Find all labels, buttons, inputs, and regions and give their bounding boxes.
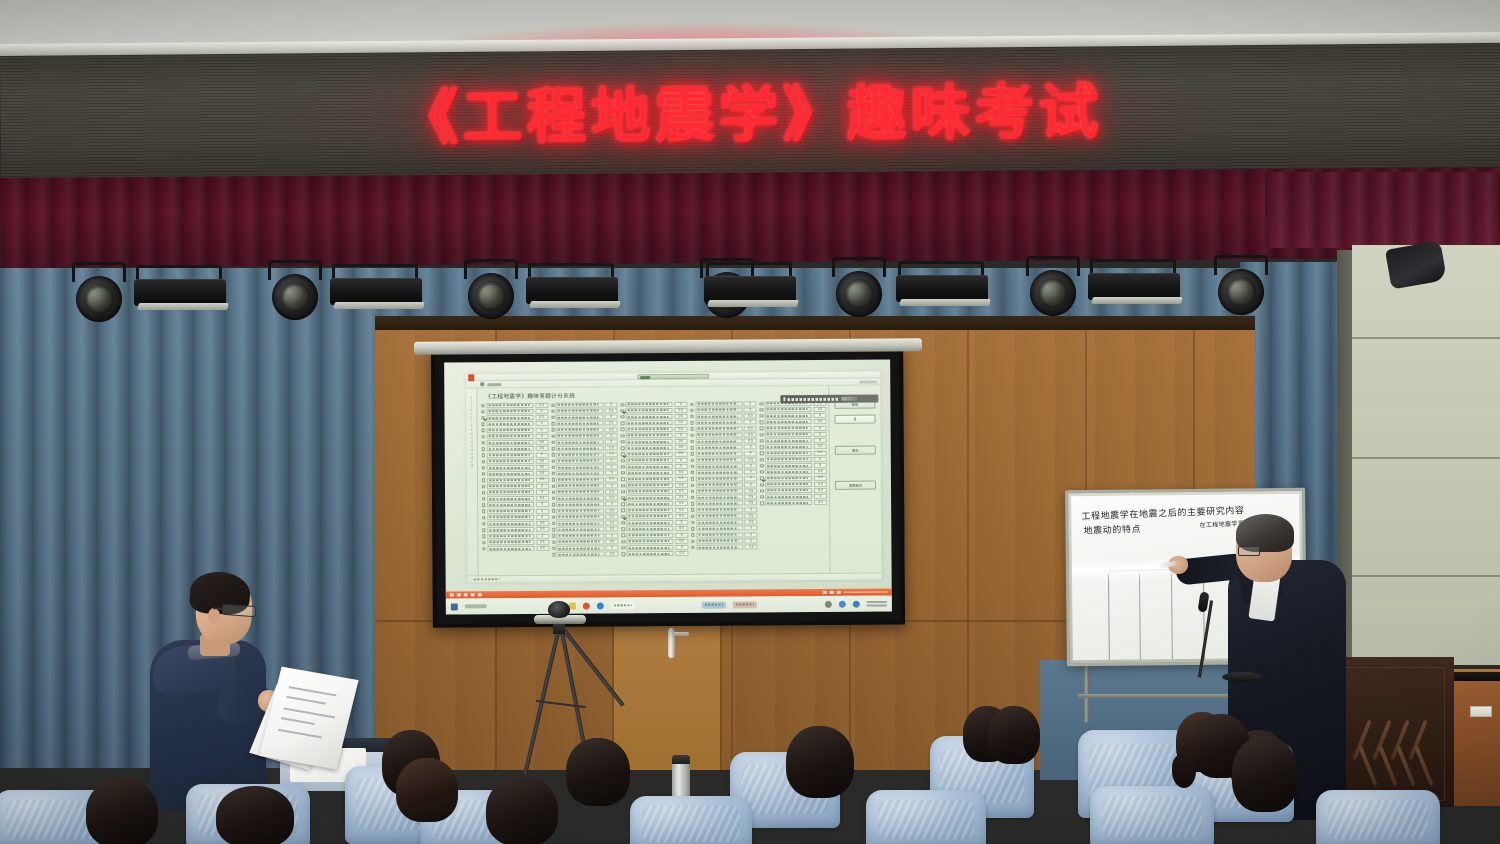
student-checkbox[interactable] xyxy=(482,416,485,419)
student-checkbox[interactable] xyxy=(551,422,554,425)
student-score-cell[interactable]: 0.5 xyxy=(814,469,827,474)
student-score-cell[interactable]: 0.5 xyxy=(535,459,548,464)
student-name-cell[interactable] xyxy=(487,546,534,551)
student-checkbox[interactable] xyxy=(760,433,763,436)
student-checkbox[interactable] xyxy=(760,445,763,448)
student-name-cell[interactable] xyxy=(557,489,604,494)
student-score-cell[interactable]: 0.5 xyxy=(744,457,757,462)
student-score-cell[interactable]: 0 xyxy=(535,452,548,457)
student-name-cell[interactable] xyxy=(556,458,603,463)
student-name-cell[interactable] xyxy=(695,414,742,419)
student-name-cell[interactable] xyxy=(626,489,673,494)
student-name-cell[interactable] xyxy=(765,494,812,499)
student-checkbox[interactable] xyxy=(760,495,763,498)
student-score-cell[interactable]: 0 xyxy=(605,415,618,420)
student-score-cell[interactable]: 0 xyxy=(675,545,688,550)
student-score-cell[interactable]: 0.5 xyxy=(605,527,618,532)
student-checkbox[interactable] xyxy=(690,427,693,430)
student-score-cell[interactable]: 0.5 xyxy=(744,501,757,506)
student-checkbox[interactable] xyxy=(482,460,485,463)
student-score-cell[interactable]: 0.5 xyxy=(675,451,688,456)
student-checkbox[interactable] xyxy=(621,515,624,518)
student-checkbox[interactable] xyxy=(690,402,693,405)
student-checkbox[interactable] xyxy=(551,466,554,469)
student-checkbox[interactable] xyxy=(552,547,555,550)
student-score-cell[interactable]: 0 xyxy=(536,484,549,489)
student-checkbox[interactable] xyxy=(760,421,763,424)
student-score-cell[interactable]: 0.5 xyxy=(674,420,687,425)
student-score-cell[interactable]: 0.5 xyxy=(814,444,827,449)
student-name-cell[interactable] xyxy=(626,414,673,419)
student-score-cell[interactable]: 0.5 xyxy=(605,520,618,525)
student-name-cell[interactable] xyxy=(695,432,742,437)
student-score-cell[interactable]: 0 xyxy=(814,494,827,499)
student-name-cell[interactable] xyxy=(765,451,812,456)
student-name-cell[interactable] xyxy=(487,459,534,464)
student-score-cell[interactable]: 0.5 xyxy=(605,427,618,432)
student-checkbox[interactable] xyxy=(760,439,763,442)
student-checkbox[interactable] xyxy=(481,410,484,413)
student-score-cell[interactable]: 0.5 xyxy=(814,488,827,493)
student-score-cell[interactable]: 0 xyxy=(605,439,618,444)
student-name-cell[interactable] xyxy=(626,476,673,481)
student-name-cell[interactable] xyxy=(626,514,673,519)
taskbar-search-box[interactable] xyxy=(465,604,487,608)
student-name-cell[interactable] xyxy=(487,490,534,495)
student-score-cell[interactable]: 0 xyxy=(536,502,549,507)
student-score-cell[interactable]: 0 xyxy=(745,532,758,537)
student-checkbox[interactable] xyxy=(482,422,485,425)
student-checkbox[interactable] xyxy=(690,433,693,436)
student-checkbox[interactable] xyxy=(760,464,763,467)
student-name-cell[interactable] xyxy=(557,533,604,538)
student-name-cell[interactable] xyxy=(487,440,534,445)
edge-browser-icon[interactable] xyxy=(596,602,603,609)
student-checkbox[interactable] xyxy=(691,490,694,493)
student-checkbox[interactable] xyxy=(552,503,555,506)
student-name-cell[interactable] xyxy=(487,477,534,482)
student-score-cell[interactable]: 0.5 xyxy=(605,489,618,494)
student-checkbox[interactable] xyxy=(551,447,554,450)
student-name-cell[interactable] xyxy=(487,484,534,489)
reset-button[interactable]: 清屏复位 xyxy=(835,481,876,490)
student-name-cell[interactable] xyxy=(765,488,812,493)
student-score-cell[interactable]: 0 xyxy=(744,470,757,475)
student-checkbox[interactable] xyxy=(482,504,485,507)
student-checkbox[interactable] xyxy=(622,540,625,543)
tray-volume-icon[interactable] xyxy=(853,600,860,607)
student-name-cell[interactable] xyxy=(696,545,743,550)
student-score-cell[interactable]: 0.5 xyxy=(675,551,688,556)
view-mode-button[interactable] xyxy=(823,591,827,594)
student-score-cell[interactable]: 0 xyxy=(814,463,827,468)
student-checkbox[interactable] xyxy=(551,459,554,462)
document-title-tab[interactable] xyxy=(637,374,709,380)
student-checkbox[interactable] xyxy=(691,496,694,499)
student-name-cell[interactable] xyxy=(765,469,812,474)
student-name-cell[interactable] xyxy=(487,496,534,501)
student-checkbox[interactable] xyxy=(552,553,555,556)
student-score-cell[interactable]: 0.5 xyxy=(675,539,688,544)
student-score-cell[interactable]: 0.5 xyxy=(674,414,687,419)
student-name-cell[interactable] xyxy=(626,483,673,488)
student-score-cell[interactable]: 0 xyxy=(744,445,757,450)
student-name-cell[interactable] xyxy=(626,533,673,538)
student-name-cell[interactable] xyxy=(556,421,603,426)
student-checkbox[interactable] xyxy=(621,446,624,449)
student-score-cell[interactable]: 0.5 xyxy=(536,521,549,526)
student-checkbox[interactable] xyxy=(621,409,624,412)
student-checkbox[interactable] xyxy=(691,546,694,549)
student-checkbox[interactable] xyxy=(621,459,624,462)
student-checkbox[interactable] xyxy=(621,428,624,431)
student-score-cell[interactable]: 0.5 xyxy=(675,483,688,488)
student-name-cell[interactable] xyxy=(695,439,742,444)
student-name-cell[interactable] xyxy=(765,426,812,431)
student-name-cell[interactable] xyxy=(556,408,603,413)
student-score-cell[interactable]: 0 xyxy=(744,463,757,468)
student-checkbox[interactable] xyxy=(482,454,485,457)
student-name-cell[interactable] xyxy=(487,521,534,526)
student-checkbox[interactable] xyxy=(482,547,485,550)
student-score-cell[interactable]: 0.5 xyxy=(744,426,757,431)
student-checkbox[interactable] xyxy=(621,434,624,437)
student-score-cell[interactable]: 0.5 xyxy=(535,471,548,476)
student-name-cell[interactable] xyxy=(696,501,743,506)
student-score-cell[interactable]: 0.5 xyxy=(675,508,688,513)
browser-icon[interactable] xyxy=(582,602,589,609)
student-checkbox[interactable] xyxy=(621,422,624,425)
student-checkbox[interactable] xyxy=(690,409,693,412)
student-score-cell[interactable]: 0 xyxy=(744,401,757,406)
student-name-cell[interactable] xyxy=(695,407,742,412)
student-name-cell[interactable] xyxy=(486,403,533,408)
student-score-cell[interactable]: 0 xyxy=(675,520,688,525)
student-checkbox[interactable] xyxy=(691,465,694,468)
student-score-cell[interactable]: 0.5 xyxy=(605,508,618,513)
tray-network-icon[interactable] xyxy=(839,600,846,607)
student-score-cell[interactable]: 0.5 xyxy=(605,452,618,457)
student-score-cell[interactable]: 0 xyxy=(606,533,619,538)
save-button[interactable]: 保存 xyxy=(835,446,876,455)
student-name-cell[interactable] xyxy=(765,482,812,487)
student-checkbox[interactable] xyxy=(621,415,624,418)
student-checkbox[interactable] xyxy=(621,521,624,524)
student-score-cell[interactable]: 0.5 xyxy=(536,496,549,501)
tray-icon[interactable] xyxy=(825,600,832,607)
student-score-cell[interactable]: 0 xyxy=(744,407,757,412)
student-score-cell[interactable]: 0.5 xyxy=(535,415,548,420)
student-checkbox[interactable] xyxy=(482,485,485,488)
student-checkbox[interactable] xyxy=(482,435,485,438)
student-name-cell[interactable] xyxy=(627,551,674,556)
student-score-cell[interactable]: 0.5 xyxy=(675,526,688,531)
student-score-cell[interactable]: 0 xyxy=(744,420,757,425)
student-checkbox[interactable] xyxy=(482,491,485,494)
student-name-cell[interactable] xyxy=(695,451,742,456)
student-checkbox[interactable] xyxy=(760,470,763,473)
student-checkbox[interactable] xyxy=(621,503,624,506)
student-name-cell[interactable] xyxy=(556,483,603,488)
student-checkbox[interactable] xyxy=(621,471,624,474)
student-checkbox[interactable] xyxy=(482,472,485,475)
student-checkbox[interactable] xyxy=(551,453,554,456)
student-name-cell[interactable] xyxy=(696,476,743,481)
student-checkbox[interactable] xyxy=(482,541,485,544)
taskbar-window-button[interactable] xyxy=(610,602,634,609)
student-score-cell[interactable]: 0 xyxy=(536,515,549,520)
student-name-cell[interactable] xyxy=(765,438,812,443)
student-score-cell[interactable]: 0.5 xyxy=(535,440,548,445)
student-checkbox[interactable] xyxy=(552,478,555,481)
student-score-cell[interactable]: 0 xyxy=(606,545,619,550)
student-score-cell[interactable]: 0.5 xyxy=(814,450,827,455)
student-score-cell[interactable]: 0.5 xyxy=(605,496,618,501)
student-score-cell[interactable]: 0.5 xyxy=(605,421,618,426)
student-checkbox[interactable] xyxy=(552,522,555,525)
student-checkbox[interactable] xyxy=(552,540,555,543)
student-name-cell[interactable] xyxy=(557,527,604,532)
student-checkbox[interactable] xyxy=(482,441,485,444)
windows-taskbar[interactable] xyxy=(446,595,892,614)
student-name-cell[interactable] xyxy=(626,458,673,463)
student-checkbox[interactable] xyxy=(760,427,763,430)
student-name-cell[interactable] xyxy=(557,502,604,507)
student-checkbox[interactable] xyxy=(760,477,763,480)
student-checkbox[interactable] xyxy=(690,415,693,418)
student-name-cell[interactable] xyxy=(556,440,603,445)
student-name-cell[interactable] xyxy=(556,452,603,457)
student-name-cell[interactable] xyxy=(556,477,603,482)
student-checkbox[interactable] xyxy=(621,453,624,456)
student-name-cell[interactable] xyxy=(487,540,534,545)
student-name-cell[interactable] xyxy=(626,427,673,432)
student-checkbox[interactable] xyxy=(691,533,694,536)
student-name-cell[interactable] xyxy=(626,420,673,425)
student-name-cell[interactable] xyxy=(626,539,673,544)
student-checkbox[interactable] xyxy=(551,403,554,406)
window-controls[interactable] xyxy=(859,381,877,384)
student-checkbox[interactable] xyxy=(482,497,485,500)
student-checkbox[interactable] xyxy=(551,428,554,431)
student-checkbox[interactable] xyxy=(552,484,555,487)
student-score-cell[interactable]: 0 xyxy=(745,526,758,531)
student-name-cell[interactable] xyxy=(626,508,673,513)
student-score-cell[interactable]: 0 xyxy=(535,409,548,414)
student-name-cell[interactable] xyxy=(557,539,604,544)
student-name-cell[interactable] xyxy=(765,457,812,462)
student-checkbox[interactable] xyxy=(621,403,624,406)
student-checkbox[interactable] xyxy=(691,477,694,480)
student-score-cell[interactable]: 0.5 xyxy=(813,407,826,412)
student-name-cell[interactable] xyxy=(765,413,812,418)
student-name-cell[interactable] xyxy=(765,444,812,449)
student-score-cell[interactable]: 0.5 xyxy=(745,520,758,525)
student-checkbox[interactable] xyxy=(621,440,624,443)
student-checkbox[interactable] xyxy=(690,446,693,449)
student-checkbox[interactable] xyxy=(621,527,624,530)
student-checkbox[interactable] xyxy=(552,509,555,512)
student-score-cell[interactable]: 0.5 xyxy=(535,403,548,408)
view-mode-button[interactable] xyxy=(830,591,834,594)
student-checkbox[interactable] xyxy=(621,490,624,493)
student-checkbox[interactable] xyxy=(551,441,554,444)
student-name-cell[interactable] xyxy=(696,520,743,525)
student-checkbox[interactable] xyxy=(760,408,763,411)
student-score-cell[interactable]: 0.5 xyxy=(675,514,688,519)
student-name-cell[interactable] xyxy=(626,495,673,500)
student-checkbox[interactable] xyxy=(621,509,624,512)
student-name-cell[interactable] xyxy=(626,439,673,444)
student-score-cell[interactable]: 0 xyxy=(675,458,688,463)
student-name-cell[interactable] xyxy=(486,428,533,433)
student-checkbox[interactable] xyxy=(552,534,555,537)
student-name-cell[interactable] xyxy=(765,500,812,505)
student-score-cell[interactable]: 0.5 xyxy=(605,408,618,413)
student-checkbox[interactable] xyxy=(482,447,485,450)
student-name-cell[interactable] xyxy=(487,471,534,476)
student-checkbox[interactable] xyxy=(691,483,694,486)
student-score-cell[interactable]: 0.5 xyxy=(674,408,687,413)
student-name-cell[interactable] xyxy=(487,509,534,514)
student-checkbox[interactable] xyxy=(482,510,485,513)
student-name-cell[interactable] xyxy=(696,488,743,493)
student-score-cell[interactable]: 0.5 xyxy=(674,439,687,444)
student-checkbox[interactable] xyxy=(691,452,694,455)
student-checkbox[interactable] xyxy=(481,404,484,407)
student-checkbox[interactable] xyxy=(552,528,555,531)
student-name-cell[interactable] xyxy=(696,526,743,531)
student-score-cell[interactable]: 0.5 xyxy=(744,432,757,437)
student-score-cell[interactable]: 0.5 xyxy=(605,446,618,451)
student-checkbox[interactable] xyxy=(690,421,693,424)
student-name-cell[interactable] xyxy=(695,457,742,462)
student-checkbox[interactable] xyxy=(622,534,625,537)
student-score-cell[interactable]: 0 xyxy=(814,457,827,462)
sheet-tab-sheet1[interactable] xyxy=(474,578,500,581)
student-name-cell[interactable] xyxy=(765,432,812,437)
student-name-cell[interactable] xyxy=(696,507,743,512)
student-name-cell[interactable] xyxy=(626,470,673,475)
student-checkbox[interactable] xyxy=(691,508,694,511)
student-score-cell[interactable]: 0 xyxy=(814,426,827,431)
student-name-cell[interactable] xyxy=(557,521,604,526)
student-score-cell[interactable]: 0 xyxy=(536,533,549,538)
student-score-cell[interactable]: 0 xyxy=(536,490,549,495)
student-score-cell[interactable]: 0 xyxy=(813,413,826,418)
student-name-cell[interactable] xyxy=(695,445,742,450)
student-checkbox[interactable] xyxy=(621,478,624,481)
student-name-cell[interactable] xyxy=(696,513,743,518)
student-name-cell[interactable] xyxy=(487,534,534,539)
student-score-cell[interactable]: 0 xyxy=(744,451,757,456)
student-name-cell[interactable] xyxy=(486,409,533,414)
student-score-cell[interactable]: 0.5 xyxy=(675,501,688,506)
student-score-cell[interactable]: 0.5 xyxy=(814,482,827,487)
taskbar-window-pdf[interactable] xyxy=(733,601,757,608)
student-score-cell[interactable]: 0 xyxy=(674,402,687,407)
student-name-cell[interactable] xyxy=(557,514,604,519)
student-checkbox[interactable] xyxy=(621,484,624,487)
student-score-cell[interactable]: 0 xyxy=(605,402,618,407)
student-checkbox[interactable] xyxy=(482,429,485,432)
student-name-cell[interactable] xyxy=(556,446,603,451)
student-score-cell[interactable]: 0.5 xyxy=(536,540,549,545)
student-score-cell[interactable]: 0.5 xyxy=(675,470,688,475)
student-checkbox[interactable] xyxy=(760,414,763,417)
student-name-cell[interactable] xyxy=(696,470,743,475)
student-checkbox[interactable] xyxy=(551,410,554,413)
student-score-cell[interactable]: 0 xyxy=(605,483,618,488)
student-score-cell[interactable]: 0.5 xyxy=(535,465,548,470)
student-score-cell[interactable]: 0.5 xyxy=(744,495,757,500)
student-score-cell[interactable]: 0 xyxy=(535,434,548,439)
student-name-cell[interactable] xyxy=(626,526,673,531)
student-score-cell[interactable]: 0 xyxy=(675,464,688,469)
student-score-cell[interactable]: 0.5 xyxy=(605,514,618,519)
student-name-cell[interactable] xyxy=(765,407,812,412)
student-checkbox[interactable] xyxy=(482,535,485,538)
student-name-cell[interactable] xyxy=(557,546,604,551)
student-score-cell[interactable]: 0 xyxy=(745,538,758,543)
student-checkbox[interactable] xyxy=(551,472,554,475)
student-checkbox[interactable] xyxy=(552,516,555,519)
student-score-cell[interactable]: 0 xyxy=(605,464,618,469)
student-score-cell[interactable]: 0.5 xyxy=(814,500,827,505)
student-name-cell[interactable] xyxy=(696,538,743,543)
student-score-cell[interactable]: 0.5 xyxy=(744,438,757,443)
taskbar-window-wechat[interactable] xyxy=(702,601,726,608)
student-checkbox[interactable] xyxy=(691,502,694,505)
student-score-cell[interactable]: 0.5 xyxy=(814,475,827,480)
student-score-cell[interactable]: 0.5 xyxy=(536,477,549,482)
student-name-cell[interactable] xyxy=(556,433,603,438)
student-checkbox[interactable] xyxy=(482,479,485,482)
student-name-cell[interactable] xyxy=(487,527,534,532)
taskbar-clock[interactable] xyxy=(867,600,887,606)
student-name-cell[interactable] xyxy=(557,508,604,513)
student-name-cell[interactable] xyxy=(486,415,533,420)
student-score-cell[interactable]: 0 xyxy=(605,502,618,507)
student-name-cell[interactable] xyxy=(556,427,603,432)
student-checkbox[interactable] xyxy=(691,539,694,542)
student-checkbox[interactable] xyxy=(622,546,625,549)
student-name-cell[interactable] xyxy=(695,420,742,425)
student-score-cell[interactable]: 0.5 xyxy=(536,546,549,551)
student-score-cell[interactable]: 0.5 xyxy=(744,488,757,493)
student-name-cell[interactable] xyxy=(556,415,603,420)
student-checkbox[interactable] xyxy=(621,496,624,499)
student-name-cell[interactable] xyxy=(557,496,604,501)
student-score-cell[interactable]: 0 xyxy=(605,471,618,476)
view-mode-button[interactable] xyxy=(837,591,841,594)
student-score-cell[interactable]: 0.5 xyxy=(606,552,619,557)
student-score-cell[interactable]: 0.5 xyxy=(675,489,688,494)
student-name-cell[interactable] xyxy=(626,408,673,413)
student-name-cell[interactable] xyxy=(626,464,673,469)
student-checkbox[interactable] xyxy=(551,434,554,437)
student-score-cell[interactable]: 0.5 xyxy=(675,476,688,481)
student-checkbox[interactable] xyxy=(551,416,554,419)
student-name-cell[interactable] xyxy=(625,402,672,407)
student-name-cell[interactable] xyxy=(696,482,743,487)
student-checkbox[interactable] xyxy=(552,491,555,494)
zoom-slider[interactable] xyxy=(844,591,888,592)
student-score-cell[interactable]: 0.5 xyxy=(674,426,687,431)
student-score-cell[interactable]: 0.5 xyxy=(536,527,549,532)
student-score-cell[interactable]: 0 xyxy=(535,427,548,432)
student-name-cell[interactable] xyxy=(626,433,673,438)
